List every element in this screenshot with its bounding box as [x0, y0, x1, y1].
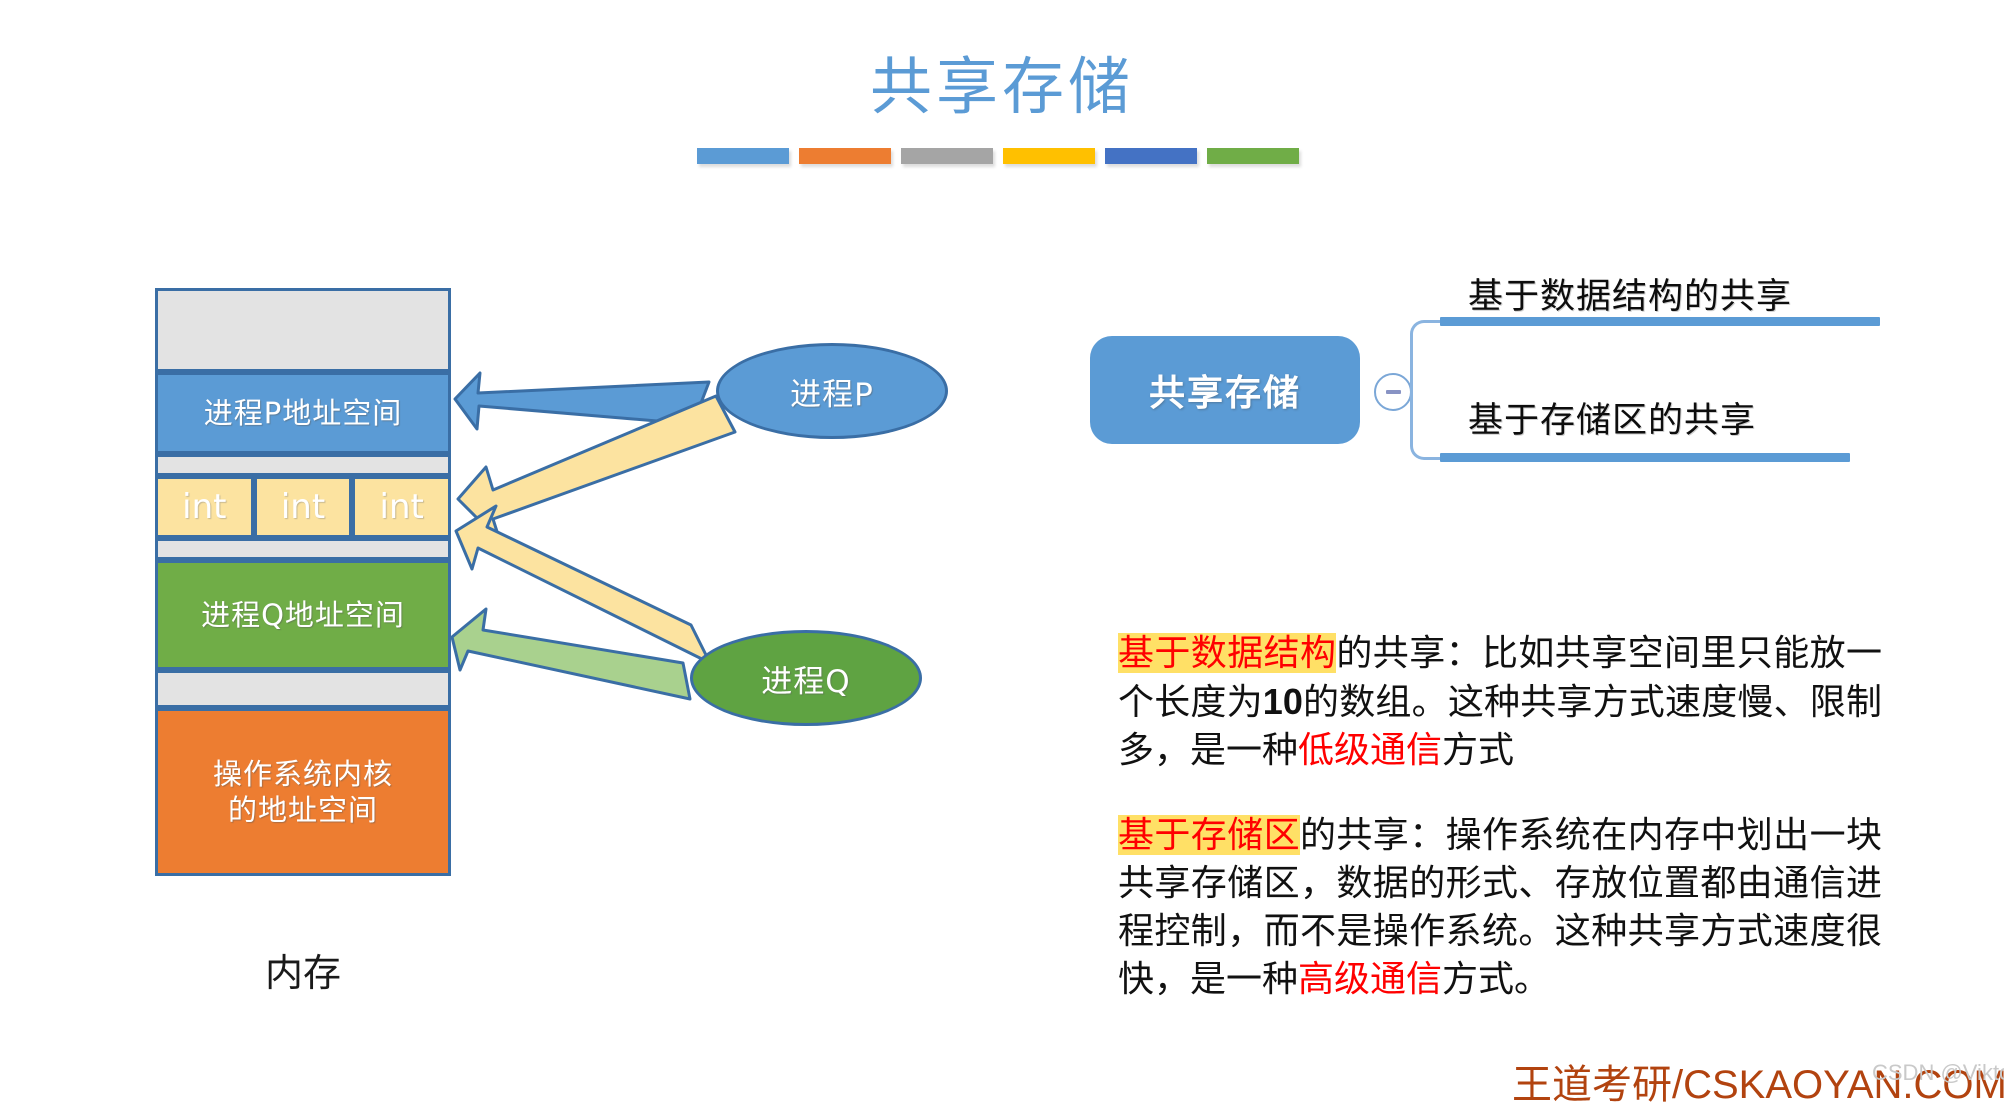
accent-bar-group: [697, 148, 1299, 164]
memory-block-gap-3: [155, 670, 451, 708]
memory-block-gap-2: [155, 538, 451, 560]
accent-bar-orange: [799, 148, 891, 164]
kernel-label-line-1: 操作系统内核: [213, 757, 393, 791]
memory-column: 进程P地址空间 int int int 进程Q地址空间 操作系统内核 的地址空间: [155, 288, 451, 876]
accent-bar-gray: [901, 148, 993, 164]
kernel-label-line-2: 的地址空间: [228, 793, 378, 827]
int-cell-1: int: [155, 476, 254, 538]
memory-block-process-p-label: 进程P地址空间: [204, 395, 403, 431]
memory-block-gap-1: [155, 454, 451, 476]
process-p-node: 进程P: [716, 343, 948, 439]
int-cell-2: int: [254, 476, 353, 538]
mindmap-bracket: [1410, 320, 1444, 460]
slide-canvas: 共享存储 进程P地址空间 int int int 进程Q地址空间 操作系统内核 …: [0, 0, 2004, 1118]
arrow-p-to-address-space: [455, 373, 709, 429]
csdn-watermark: CSDN @Viktoriae: [1872, 1060, 2004, 1086]
paragraph-1-tail: 方式: [1442, 730, 1514, 770]
memory-block-free-top: [155, 288, 451, 372]
page-title: 共享存储: [0, 36, 2004, 126]
accent-bar-blue: [697, 148, 789, 164]
memory-block-kernel-label: 操作系统内核 的地址空间: [213, 756, 393, 829]
paragraph-memory-region-sharing: 基于存储区的共享：操作系统在内存中划出一块共享存储区，数据的形式、存放位置都由通…: [1118, 812, 1882, 1004]
paragraph-1-highlight: 基于数据结构: [1118, 633, 1336, 673]
accent-bar-darkblue: [1105, 148, 1197, 164]
paragraph-1-emphasis: 低级通信: [1298, 730, 1442, 770]
paragraph-data-structure-sharing: 基于数据结构的共享：比如共享空间里只能放一个长度为10的数组。这种共享方式速度慢…: [1118, 630, 1882, 775]
collapse-toggle-icon[interactable]: [1374, 373, 1412, 411]
arrow-q-to-address-space: [452, 609, 690, 699]
paragraph-2-emphasis: 高级通信: [1298, 959, 1442, 999]
paragraph-2-highlight: 基于存储区: [1118, 815, 1300, 855]
accent-bar-yellow: [1003, 148, 1095, 164]
memory-block-process-p: 进程P地址空间: [155, 372, 451, 454]
memory-block-shared-ints: int int int: [155, 476, 451, 538]
process-q-node: 进程Q: [690, 630, 922, 726]
process-q-label: 进程Q: [761, 656, 850, 701]
arrow-q-to-shared-ints: [456, 506, 710, 663]
mindmap-branch-label-1[interactable]: 基于数据结构的共享: [1468, 268, 1792, 319]
accent-bar-green: [1207, 148, 1299, 164]
memory-caption: 内存: [155, 942, 451, 997]
mindmap-root-node[interactable]: 共享存储: [1090, 336, 1360, 444]
memory-block-process-q-label: 进程Q地址空间: [201, 597, 405, 633]
paragraph-1-number: 10: [1263, 681, 1303, 722]
minus-icon: [1386, 390, 1401, 394]
mindmap-branch-bar-2: [1440, 453, 1850, 462]
mindmap-branch-label-2[interactable]: 基于存储区的共享: [1468, 392, 1756, 443]
memory-block-kernel: 操作系统内核 的地址空间: [155, 708, 451, 876]
process-p-label: 进程P: [790, 369, 874, 414]
memory-block-process-q: 进程Q地址空间: [155, 560, 451, 670]
paragraph-2-tail: 方式。: [1442, 959, 1550, 999]
int-cell-3: int: [352, 476, 451, 538]
arrow-p-to-shared-ints: [458, 396, 735, 541]
